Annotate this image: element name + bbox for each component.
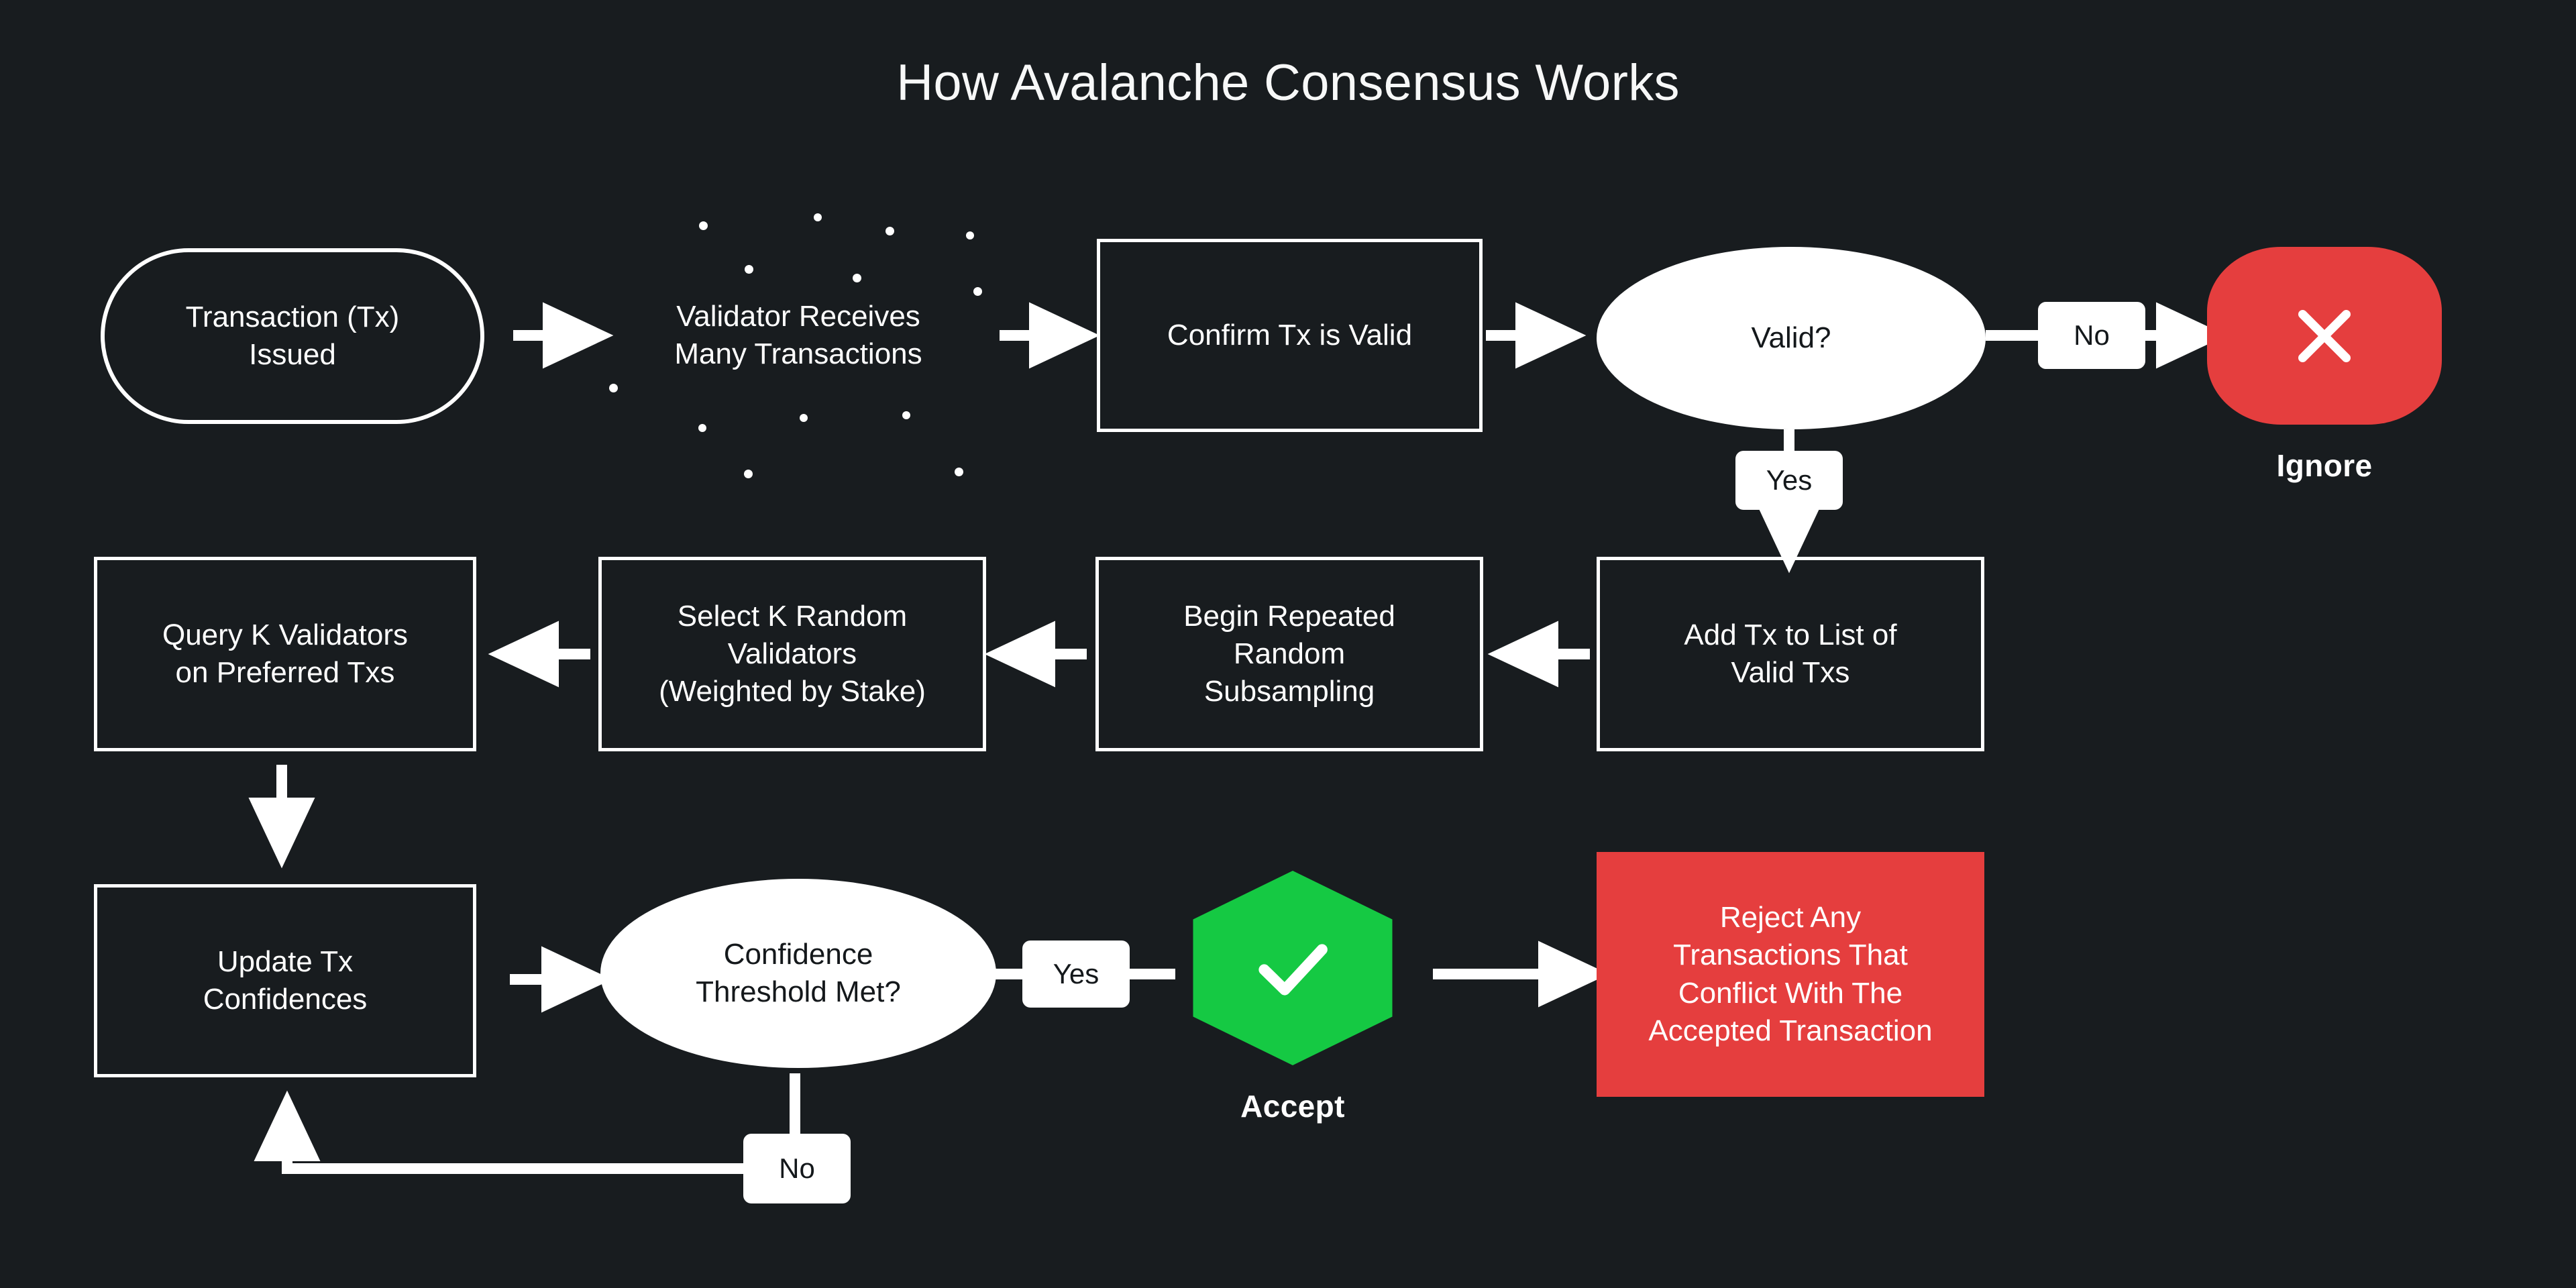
- ignore-badge-shape: [2207, 247, 2442, 425]
- node-ignore-label: Ignore: [2277, 447, 2373, 484]
- node-transaction-issued-label: Transaction (Tx) Issued: [186, 299, 400, 374]
- transaction-dot: [902, 411, 910, 419]
- check-mark-icon: [1242, 918, 1343, 1018]
- node-update-tx-confidences-label: Update Tx Confidences: [203, 943, 368, 1019]
- node-query-k-validators[interactable]: Query K Validators on Preferred Txs: [94, 557, 476, 751]
- edge-label-valid-no: No: [2038, 302, 2145, 369]
- node-add-tx-to-list[interactable]: Add Tx to List of Valid Txs: [1597, 557, 1984, 751]
- node-validator-receives-label: Validator Receives Many Transactions: [674, 298, 922, 374]
- node-confirm-tx-valid-label: Confirm Tx is Valid: [1167, 317, 1412, 354]
- edge-label-threshold-no-text: No: [779, 1155, 815, 1183]
- node-reject-conflicts[interactable]: Reject Any Transactions That Conflict Wi…: [1597, 852, 1984, 1097]
- node-add-tx-to-list-label: Add Tx to List of Valid Txs: [1684, 616, 1896, 692]
- transaction-dot: [699, 221, 708, 230]
- transaction-dot: [955, 468, 963, 476]
- node-accept[interactable]: Accept: [1182, 871, 1403, 1124]
- node-query-k-validators-label: Query K Validators on Preferred Txs: [162, 616, 408, 692]
- node-begin-subsampling-label: Begin Repeated Random Subsampling: [1183, 598, 1395, 711]
- edge-label-threshold-no: No: [743, 1134, 851, 1203]
- node-begin-subsampling[interactable]: Begin Repeated Random Subsampling: [1095, 557, 1483, 751]
- node-reject-conflicts-label: Reject Any Transactions That Conflict Wi…: [1648, 899, 1932, 1050]
- node-valid-decision-label: Valid?: [1751, 319, 1831, 357]
- transaction-dot: [744, 470, 753, 478]
- node-ignore[interactable]: Ignore: [2207, 247, 2442, 484]
- transaction-dot: [885, 227, 894, 235]
- node-confidence-threshold[interactable]: Confidence Threshold Met?: [600, 879, 996, 1068]
- node-transaction-issued[interactable]: Transaction (Tx) Issued: [101, 248, 484, 424]
- node-select-k-random-label: Select K Random Validators (Weighted by …: [659, 598, 926, 711]
- node-confidence-threshold-label: Confidence Threshold Met?: [696, 936, 901, 1012]
- transaction-dot: [814, 213, 822, 221]
- flowchart-canvas: How Avalanche Consensus Works: [0, 0, 2576, 1288]
- page-title: How Avalanche Consensus Works: [0, 54, 2576, 112]
- node-valid-decision[interactable]: Valid?: [1597, 247, 1986, 429]
- accept-badge-shape: [1182, 871, 1403, 1065]
- node-validator-receives[interactable]: Validator Receives Many Transactions: [610, 282, 986, 389]
- edge-label-valid-yes-text: Yes: [1766, 466, 1813, 494]
- x-mark-icon: [2284, 296, 2365, 376]
- edge-label-threshold-yes: Yes: [1022, 941, 1130, 1008]
- transaction-dot: [698, 424, 706, 432]
- edge-no-loop-back: [287, 1127, 745, 1169]
- node-update-tx-confidences[interactable]: Update Tx Confidences: [94, 884, 476, 1077]
- transaction-dot: [745, 265, 753, 274]
- edge-label-valid-yes: Yes: [1735, 451, 1843, 510]
- transaction-dot: [966, 231, 974, 239]
- node-select-k-random[interactable]: Select K Random Validators (Weighted by …: [598, 557, 986, 751]
- node-accept-label: Accept: [1240, 1088, 1345, 1124]
- node-confirm-tx-valid[interactable]: Confirm Tx is Valid: [1097, 239, 1483, 432]
- transaction-dot: [800, 414, 808, 422]
- edge-label-valid-no-text: No: [2074, 321, 2110, 350]
- edge-label-threshold-yes-text: Yes: [1053, 960, 1099, 988]
